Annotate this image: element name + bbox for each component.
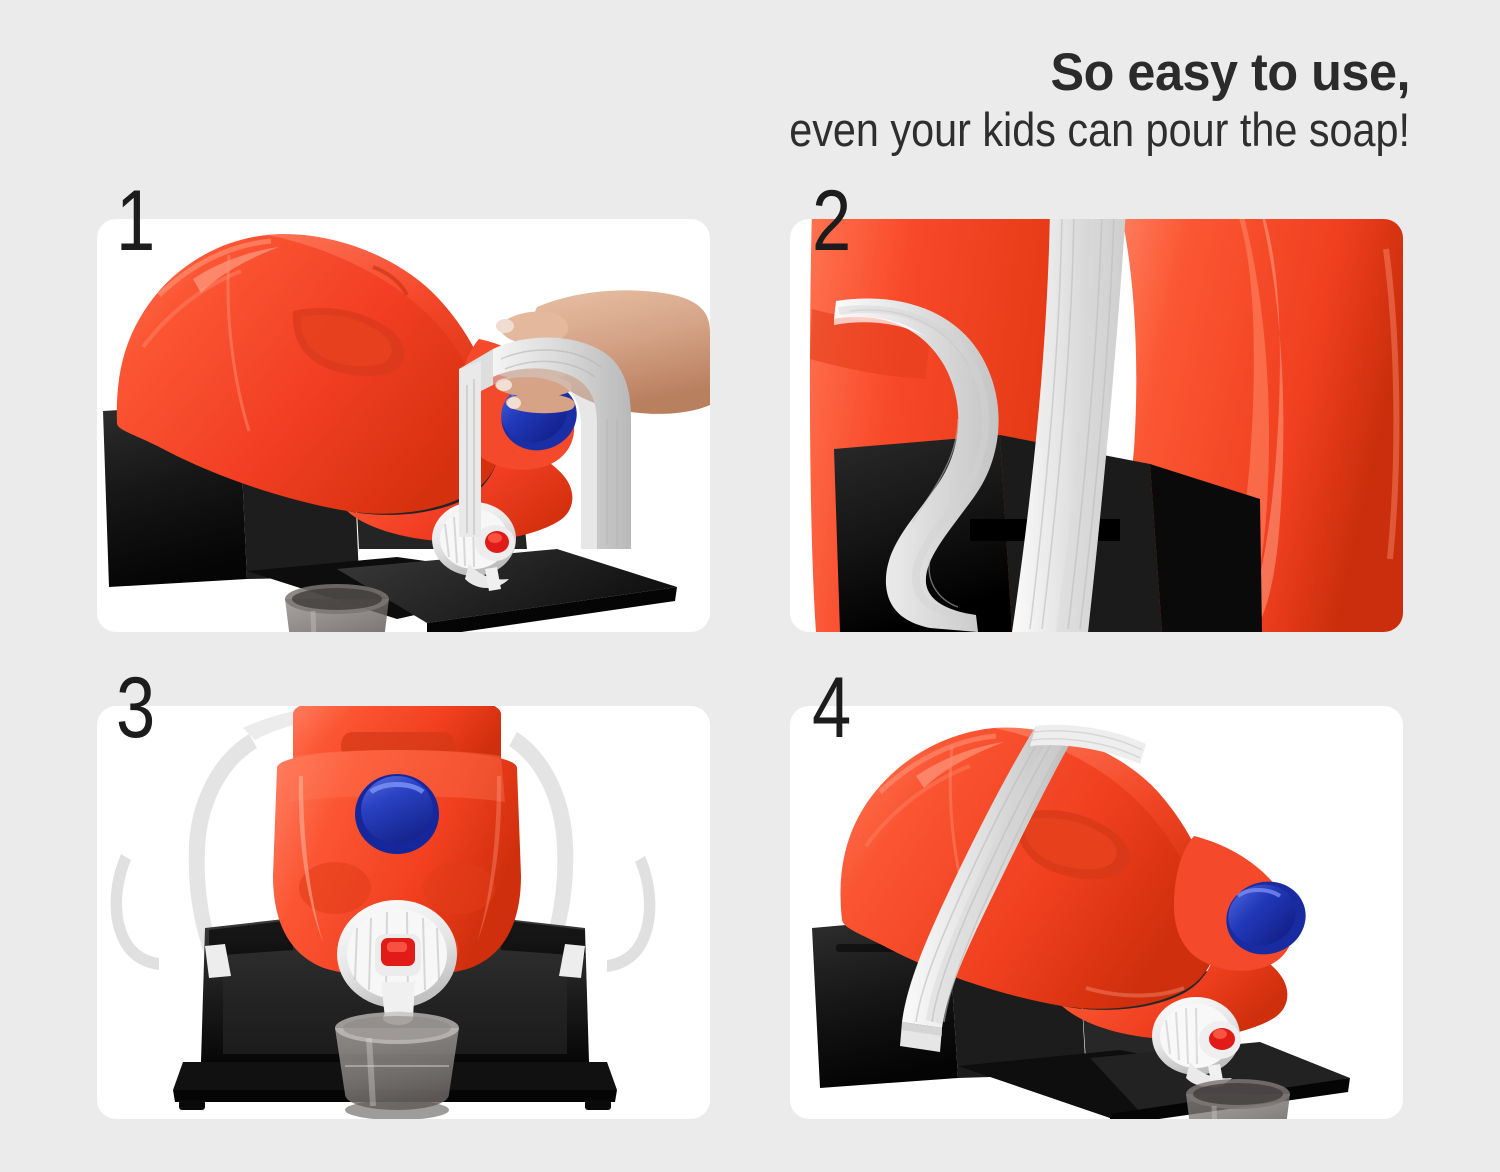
translucent-measuring-cup — [1186, 1079, 1290, 1119]
blue-screw-cap — [355, 774, 439, 854]
step-4-illustration — [790, 706, 1403, 1119]
step-card-2 — [790, 219, 1403, 632]
headline: So easy to use, — [555, 46, 1410, 99]
step-number-2: 2 — [812, 178, 851, 264]
step-1-illustration — [97, 219, 710, 632]
step-number-3: 3 — [116, 665, 155, 751]
subheadline: even your kids can pour the soap! — [618, 105, 1410, 156]
translucent-measuring-cup — [335, 1012, 459, 1119]
header-text-block: So easy to use, even your kids can pour … — [510, 46, 1410, 156]
step-number-4: 4 — [812, 665, 851, 751]
step-2-illustration — [790, 219, 1403, 632]
infographic-stage: So easy to use, even your kids can pour … — [0, 0, 1500, 1172]
step-card-1 — [97, 219, 710, 632]
step-card-3 — [97, 706, 710, 1119]
step-number-1: 1 — [116, 178, 155, 264]
step-3-illustration — [97, 706, 710, 1119]
translucent-measuring-cup — [285, 584, 389, 632]
step-card-4 — [790, 706, 1403, 1119]
